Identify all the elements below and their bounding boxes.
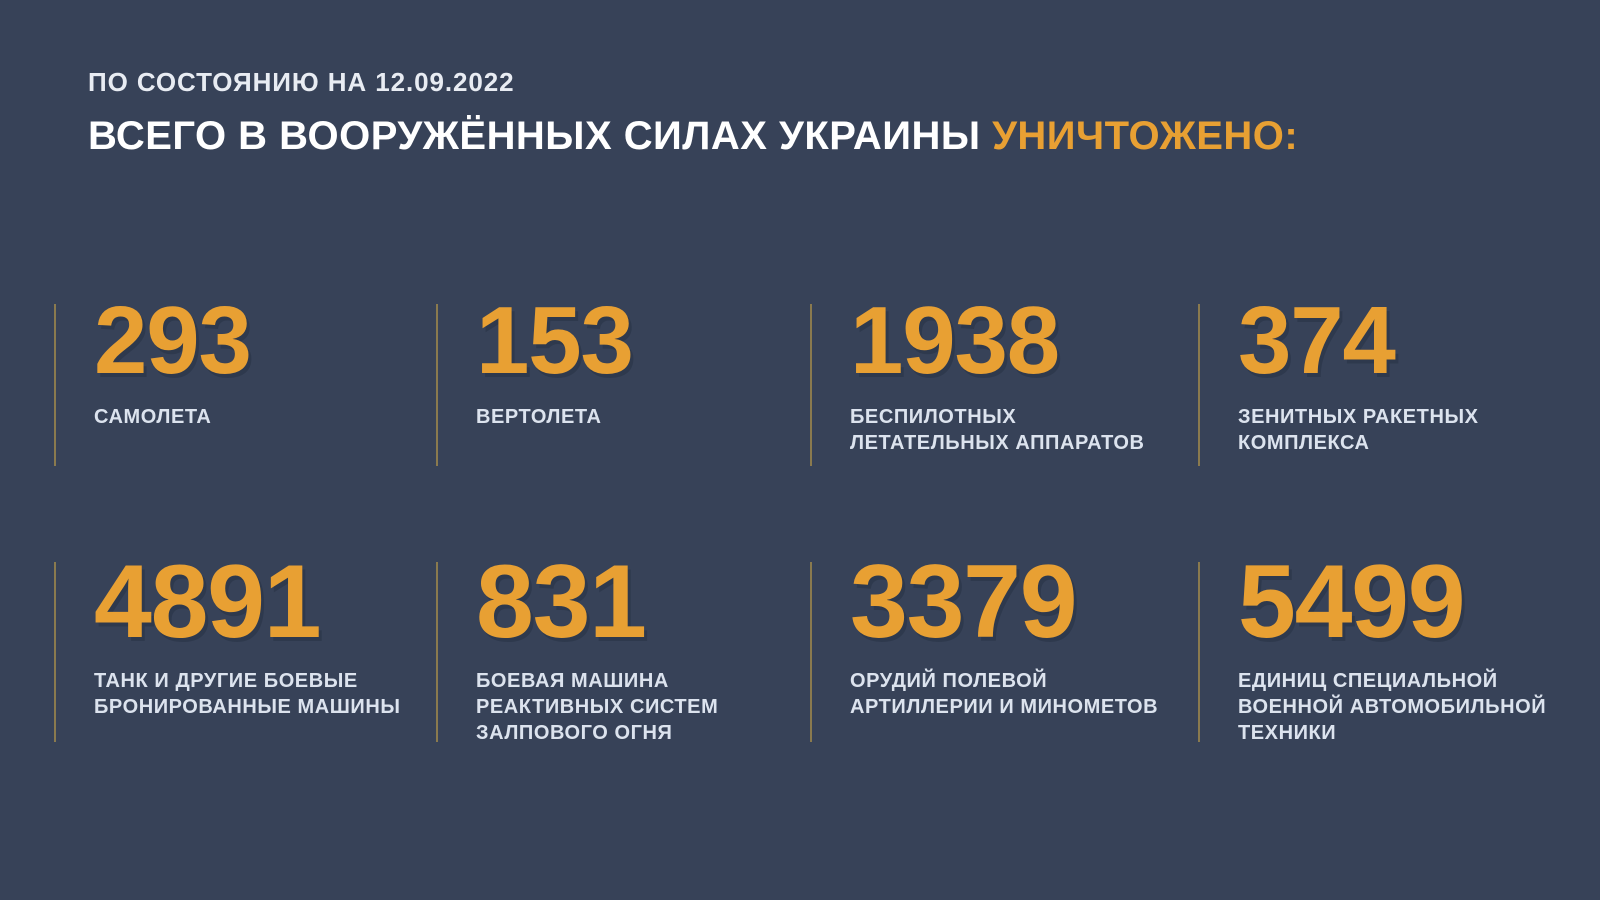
stat-card-tanks: 4891 ТАНК И ДРУГИЕ БОЕВЫЕ БРОНИРОВАННЫЕ … [54,554,436,804]
stat-label: ЕДИНИЦ СПЕЦИАЛЬНОЙ ВОЕННОЙ АВТОМОБИЛЬНОЙ… [1238,668,1588,746]
statistics-row-2: 4891 ТАНК И ДРУГИЕ БОЕВЫЕ БРОНИРОВАННЫЕ … [0,554,1600,804]
stat-label: ЗЕНИТНЫХ РАКЕТНЫХ КОМПЛЕКСА [1238,404,1588,456]
stat-label: САМОЛЕТА [94,404,436,430]
page-title: ВСЕГО В ВООРУЖЁННЫХ СИЛАХ УКРАИНЫ УНИЧТО… [88,115,1528,158]
stat-label-line: ЛЕТАТЕЛЬНЫХ АППАРАТОВ [850,430,1198,456]
stat-card-military-vehicles: 5499 ЕДИНИЦ СПЕЦИАЛЬНОЙ ВОЕННОЙ АВТОМОБИ… [1198,554,1588,804]
stat-label: ВЕРТОЛЕТА [476,404,810,430]
stat-card-uav: 1938 БЕСПИЛОТНЫХ ЛЕТАТЕЛЬНЫХ АППАРАТОВ [810,296,1198,554]
stat-card-air-defence: 374 ЗЕНИТНЫХ РАКЕТНЫХ КОМПЛЕКСА [1198,296,1588,554]
stat-value: 5499 [1238,554,1588,652]
stat-label-line: ВОЕННОЙ АВТОМОБИЛЬНОЙ [1238,694,1588,720]
stat-label-line: САМОЛЕТА [94,404,436,430]
stat-label-line: ЕДИНИЦ СПЕЦИАЛЬНОЙ [1238,668,1588,694]
stat-label: ОРУДИЙ ПОЛЕВОЙ АРТИЛЛЕРИИ И МИНОМЕТОВ [850,668,1198,720]
stat-label-line: БОЕВАЯ МАШИНА [476,668,810,694]
stat-value: 831 [476,554,810,652]
stat-value: 374 [1238,296,1588,386]
stat-value: 1938 [850,296,1198,386]
headline-accent-text: УНИЧТОЖЕНО: [992,114,1298,158]
stat-label-line: БРОНИРОВАННЫЕ МАШИНЫ [94,694,436,720]
report-date: ПО СОСТОЯНИЮ НА 12.09.2022 [88,68,1528,97]
stat-card-artillery: 3379 ОРУДИЙ ПОЛЕВОЙ АРТИЛЛЕРИИ И МИНОМЕТ… [810,554,1198,804]
stat-label-line: ТАНК И ДРУГИЕ БОЕВЫЕ [94,668,436,694]
stat-label-line: БЕСПИЛОТНЫХ [850,404,1198,430]
stat-label-line: ЗАЛПОВОГО ОГНЯ [476,720,810,746]
stat-label-line: ТЕХНИКИ [1238,720,1588,746]
statistics-row-1: 293 САМОЛЕТА 153 ВЕРТОЛЕТА 1938 БЕСПИЛОТ… [0,296,1600,554]
stat-card-aircraft: 293 САМОЛЕТА [54,296,436,554]
header: ПО СОСТОЯНИЮ НА 12.09.2022 ВСЕГО В ВООРУ… [88,68,1528,158]
stat-value: 293 [94,296,436,386]
stat-label-line: ВЕРТОЛЕТА [476,404,810,430]
stat-label: БОЕВАЯ МАШИНА РЕАКТИВНЫХ СИСТЕМ ЗАЛПОВОГ… [476,668,810,746]
stat-card-mlrs: 831 БОЕВАЯ МАШИНА РЕАКТИВНЫХ СИСТЕМ ЗАЛП… [436,554,810,804]
statistics-grid: 293 САМОЛЕТА 153 ВЕРТОЛЕТА 1938 БЕСПИЛОТ… [0,296,1600,804]
stat-value: 4891 [94,554,436,652]
stat-label-line: АРТИЛЛЕРИИ И МИНОМЕТОВ [850,694,1198,720]
stat-label-line: РЕАКТИВНЫХ СИСТЕМ [476,694,810,720]
stat-label: БЕСПИЛОТНЫХ ЛЕТАТЕЛЬНЫХ АППАРАТОВ [850,404,1198,456]
stat-label: ТАНК И ДРУГИЕ БОЕВЫЕ БРОНИРОВАННЫЕ МАШИН… [94,668,436,720]
stat-value: 3379 [850,554,1198,652]
headline-main-text: ВСЕГО В ВООРУЖЁННЫХ СИЛАХ УКРАИНЫ [88,114,980,158]
stat-label-line: ЗЕНИТНЫХ РАКЕТНЫХ [1238,404,1588,430]
stat-label-line: ОРУДИЙ ПОЛЕВОЙ [850,668,1198,694]
stat-label-line: КОМПЛЕКСА [1238,430,1588,456]
stat-value: 153 [476,296,810,386]
stat-card-helicopters: 153 ВЕРТОЛЕТА [436,296,810,554]
